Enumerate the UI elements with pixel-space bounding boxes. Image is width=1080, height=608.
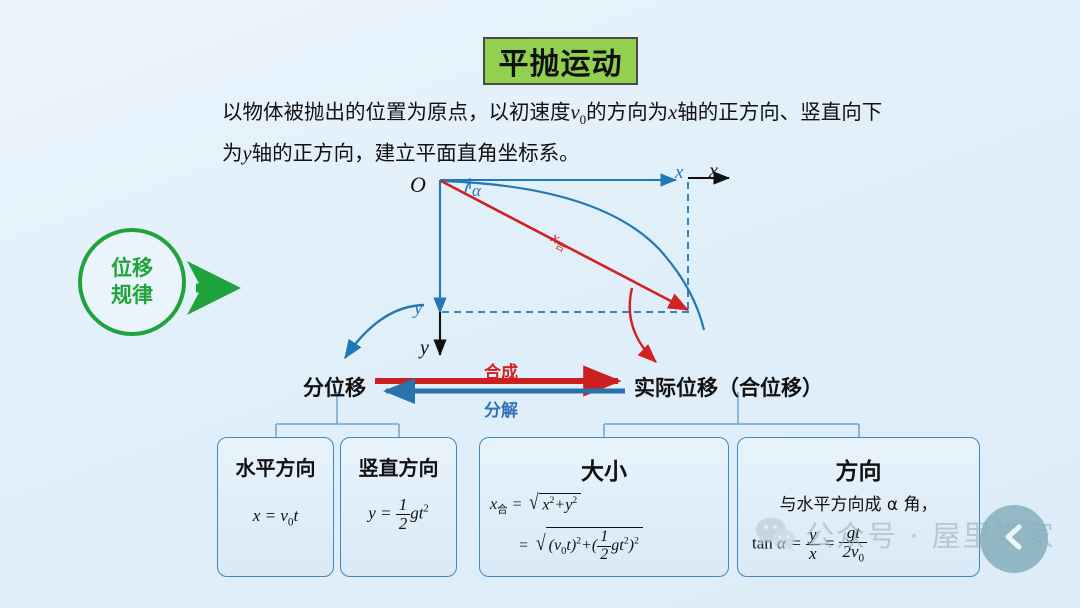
radicand-1: x2+y2 [539,493,581,514]
formula-vertical: y = 1 2 gt2 [341,496,456,533]
box-vertical-direction: 竖直方向 y = 1 2 gt2 [340,437,457,577]
tok-plus2: + [581,537,592,554]
badge-line-2: 规律 [111,282,153,309]
formula-magnitude-line2: = √(v0t)2+(12gt2)2 [518,527,643,564]
blue-curved-arrow [345,305,424,358]
trajectory-curve [441,181,704,330]
fraction-one-half-2: 12 [597,529,611,564]
tok-eq: = [265,506,276,525]
tok-y: y [368,503,376,522]
tok-v: v [280,506,288,525]
tok-radical1: √ [530,490,539,515]
tok-eqm2: = [518,537,529,554]
back-button[interactable] [980,505,1048,573]
box-horizontal-direction: 水平方向 x = v0t [217,437,334,577]
label-decomposition: 分解 [484,396,518,421]
slide-canvas: 平抛运动 以物体被抛出的位置为原点，以初速度v0的方向为x轴的正方向、竖直向下 … [0,0,1080,608]
box-horizontal-title: 水平方向 [218,452,333,481]
box-magnitude-title: 大小 [480,452,728,486]
tok-sup2: 2 [424,504,429,515]
fraction-one-half: 1 2 [396,496,411,533]
x-axis-label-black: x [709,160,718,183]
tok-plus1: + [554,496,565,513]
tok-he: 合 [497,505,508,516]
y-axis-label-blue: y [414,298,422,320]
formula-horizontal: x = v0t [218,506,333,528]
tok-eqm: = [512,496,523,513]
tok-1: 1 [396,496,411,515]
tok-1b: 1 [597,529,611,547]
box-direction: 方向 与水平方向成 α 角， tan α = y x = gt 2v0 [737,437,980,577]
formula-magnitude-line1: x合 = √x2+y2 [490,490,581,517]
y-axis-label-black: y [420,337,429,360]
tok-radical2: √ [536,531,545,556]
tok-2: 2 [396,515,411,533]
chevron-left-icon [997,520,1031,559]
node-actual-displacement: 实际位移（合位移） [634,372,823,402]
tok-g: g [410,503,419,522]
box-direction-title: 方向 [738,452,979,486]
tok-t: t [293,506,298,525]
box-magnitude: 大小 x合 = √x2+y2 = √(v0t)2+(12gt2)2 [479,437,729,577]
sqrt-1: √x2+y2 [526,490,581,515]
wechat-icon [755,517,797,551]
tok-s2b: 2 [572,495,577,506]
tok-2b: 2 [597,547,611,564]
tok-x: x [253,506,261,525]
radicand-2: (v0t)2+(12gt2)2 [546,527,643,564]
tok-s2e: 2 [634,536,639,547]
x-axis-label-blue: x [675,162,683,184]
red-curved-arrow [630,288,656,362]
box-vertical-title: 竖直方向 [341,452,456,481]
tok-eq2: = [380,503,391,522]
section-badge-displacement-law: 位移 规律 [78,228,186,336]
origin-label: O [410,172,426,198]
angle-label: α [472,181,481,201]
sqrt-2: √(v0t)2+(12gt2)2 [533,527,643,564]
label-composition: 合成 [484,358,518,383]
direction-text-line: 与水平方向成 α 角， [738,490,979,515]
node-component-displacement: 分位移 [303,372,366,402]
badge-line-1: 位移 [111,255,153,282]
